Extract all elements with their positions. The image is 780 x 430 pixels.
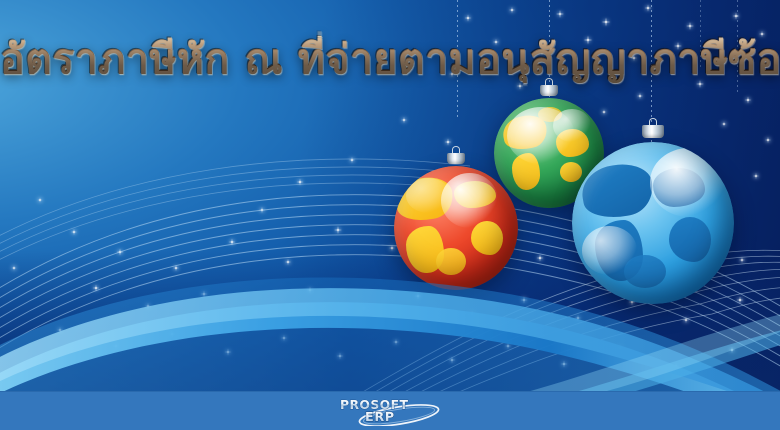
prosoft-erp-logo[interactable]: PROSOFT ERP [337,396,443,426]
star-icon [647,7,649,9]
star-icon [299,181,301,183]
page-title: อัตราภาษีหัก ณ ที่จ่ายตามอนุสัญญาภาษีซ้อ… [0,36,780,83]
ornament-cap-icon [642,118,664,138]
star-icon [351,159,353,161]
ornament-cap-icon [447,146,465,164]
star-icon [511,9,513,11]
star-icon [755,175,757,177]
star-icon [689,25,691,27]
star-icon [605,21,607,23]
star-icon [403,119,405,121]
star-icon [699,83,701,85]
logo-product-text: ERP [365,410,395,425]
star-icon [467,17,469,19]
footer-bar: PROSOFT ERP [0,391,780,430]
star-icon [559,13,561,15]
star-icon [767,139,769,141]
star-icon [639,95,641,97]
title-container: อัตราภาษีหัก ณ ที่จ่ายตามอนุสัญญาภาษีซ้อ… [0,36,780,83]
star-icon [747,99,749,101]
star-icon [735,15,737,17]
banner-image: อัตราภาษีหัก ณ ที่จ่ายตามอนุสัญญาภาษีซ้อ… [0,0,780,430]
star-icon [447,141,449,143]
